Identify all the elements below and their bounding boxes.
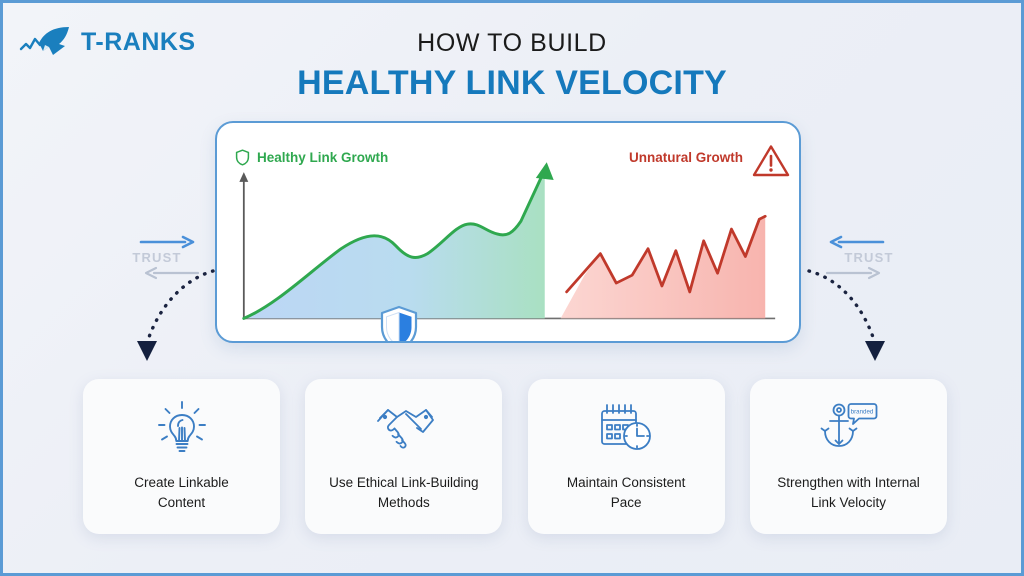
trust-label-left: TRUST <box>132 251 181 264</box>
warning-badge <box>751 143 791 184</box>
legend-healthy-label: Healthy Link Growth <box>257 150 388 165</box>
dotted-arrow-left <box>115 265 225 370</box>
tip-card-label: Strengthen with Internal Link Velocity <box>765 473 932 512</box>
trust-label-right: TRUST <box>844 251 893 264</box>
title-kicker: HOW TO BUILD <box>3 29 1021 58</box>
anchor-badge-text: branded <box>851 409 874 416</box>
anchor-branded-icon: branded <box>817 399 879 457</box>
page-title: HOW TO BUILD HEALTHY LINK VELOCITY <box>3 29 1021 105</box>
tips-card-row: Create Linkable Content <box>83 379 947 534</box>
dotted-arrow-right <box>803 265 913 370</box>
calendar-clock-icon <box>597 399 655 457</box>
trust-arrow-top-left <box>111 235 203 249</box>
unnatural-growth-area <box>561 216 766 318</box>
lightbulb-icon <box>154 399 210 457</box>
handshake-icon <box>373 399 435 457</box>
chart-card: Healthy Link Growth Unnatural Growth <box>215 121 801 343</box>
tip-card-label: Create Linkable Content <box>122 473 241 512</box>
title-main: HEALTHY LINK VELOCITY <box>3 61 1021 105</box>
legend-healthy-link-growth: Healthy Link Growth <box>235 149 388 166</box>
tip-card-internal-link-velocity[interactable]: branded Strengthen with Internal Link Ve… <box>750 379 947 534</box>
arrow-right-icon <box>139 235 195 249</box>
infographic-frame: T-RANKS HOW TO BUILD HEALTHY LINK VELOCI… <box>0 0 1024 576</box>
legend-unnatural-growth: Unnatural Growth <box>629 150 743 165</box>
healthy-growth-arrowhead <box>536 162 554 180</box>
chart-y-axis-arrowhead <box>239 172 248 182</box>
warning-triangle-icon <box>751 143 791 179</box>
trust-arrow-top-right <box>823 235 915 249</box>
tip-card-ethical-link-building[interactable]: Use Ethical Link-Building Methods <box>305 379 502 534</box>
security-shield-badge <box>379 305 419 343</box>
tip-card-label: Use Ethical Link-Building Methods <box>317 473 490 512</box>
shield-filled-icon <box>379 305 419 343</box>
tip-card-consistent-pace[interactable]: Maintain Consistent Pace <box>528 379 725 534</box>
legend-unnatural-label: Unnatural Growth <box>629 150 743 165</box>
tip-card-label: Maintain Consistent Pace <box>555 473 698 512</box>
shield-outline-icon <box>235 149 250 166</box>
tip-card-create-linkable-content[interactable]: Create Linkable Content <box>83 379 280 534</box>
arrow-left-icon <box>829 235 885 249</box>
